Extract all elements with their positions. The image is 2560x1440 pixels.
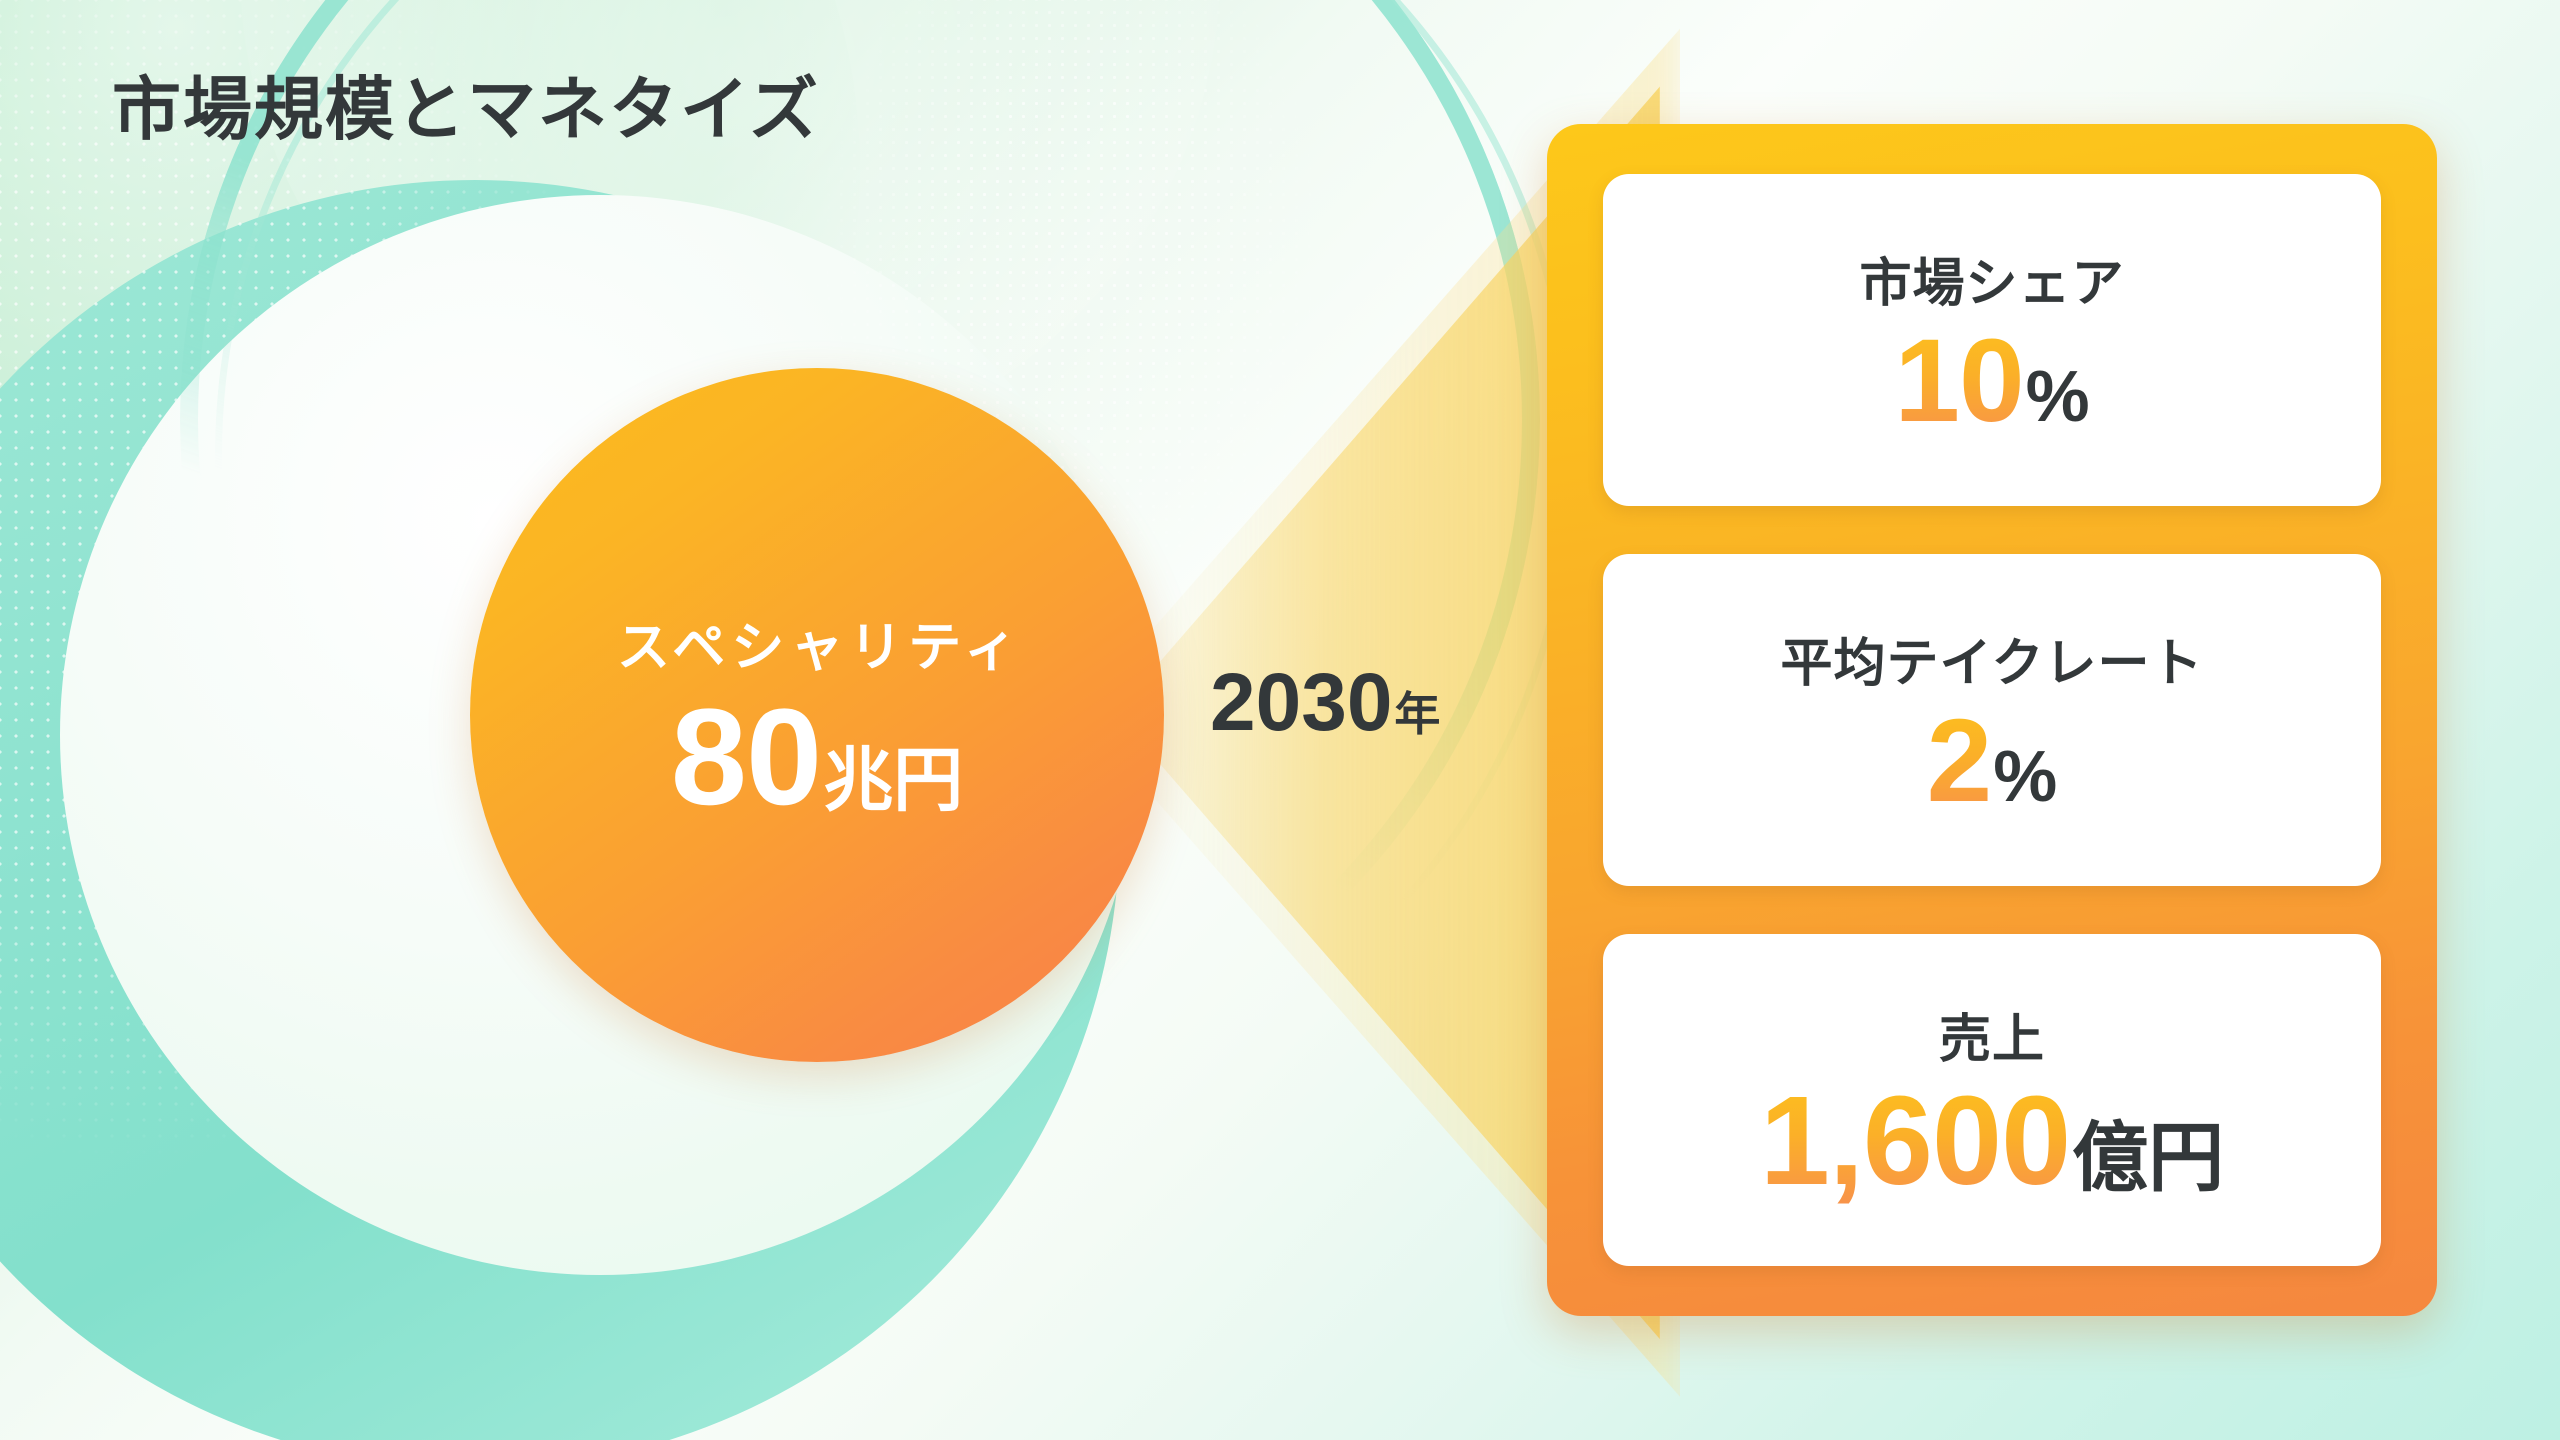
metric-card-label: 市場シェア bbox=[1859, 241, 2124, 316]
metric-card-value-row: 2 % bbox=[1927, 702, 2058, 820]
year-suffix: 年 bbox=[1394, 691, 1440, 737]
metric-card-value-row: 10 % bbox=[1894, 322, 2089, 440]
market-size-circle: スペシャリティ 80 兆円 bbox=[470, 368, 1164, 1062]
page-title: 市場規模とマネタイズ bbox=[112, 72, 820, 148]
metric-card-value: 2 bbox=[1927, 702, 1992, 820]
metric-card-label: 売上 bbox=[1939, 997, 2045, 1072]
market-size-unit: 兆円 bbox=[823, 745, 963, 815]
metrics-panel: 市場シェア 10 % 平均テイクレート 2 % 売上 1,600 億円 bbox=[1547, 124, 2437, 1316]
metric-card-value-row: 1,600 億円 bbox=[1760, 1078, 2224, 1204]
metric-card-revenue: 売上 1,600 億円 bbox=[1603, 934, 2381, 1266]
metric-card-unit: 億円 bbox=[2072, 1121, 2224, 1197]
metric-card-unit: % bbox=[1993, 741, 2057, 813]
slide-canvas: 市場規模とマネタイズ スペシャリティ 80 兆円 2030 年 市場シェア 10… bbox=[0, 0, 2560, 1440]
metric-card-unit: % bbox=[2026, 361, 2090, 433]
year-number: 2030 bbox=[1210, 662, 1392, 744]
metric-card-value: 10 bbox=[1894, 322, 2023, 440]
market-size-value: 80 bbox=[671, 689, 821, 826]
metric-card-take-rate: 平均テイクレート 2 % bbox=[1603, 554, 2381, 886]
year-badge: 2030 年 bbox=[1210, 662, 1440, 744]
market-size-label: スペシャリティ bbox=[611, 605, 1023, 681]
market-size-value-row: 80 兆円 bbox=[671, 689, 963, 826]
metric-card-market-share: 市場シェア 10 % bbox=[1603, 174, 2381, 506]
metric-card-value: 1,600 bbox=[1760, 1078, 2070, 1204]
metric-card-label: 平均テイクレート bbox=[1781, 621, 2204, 696]
